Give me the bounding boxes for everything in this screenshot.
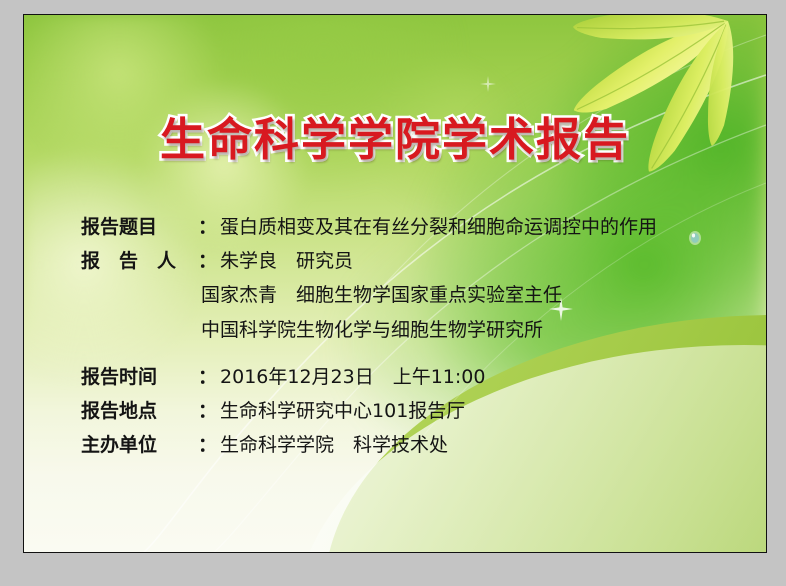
row-topic: 报告题目 ： 蛋白质相变及其在有丝分裂和细胞命运调控中的作用 [81,210,741,244]
row-location-colon: ： [198,394,217,428]
row-topic-value: 蛋白质相变及其在有丝分裂和细胞命运调控中的作用 [220,210,657,244]
row-time: 报告时间 ： 2016年12月23日 上午11:00 [81,360,741,394]
row-speaker-label: 报 告 人 [81,244,198,278]
row-time-value: 2016年12月23日 上午11:00 [220,360,485,394]
slide-body: 报告题目 ： 蛋白质相变及其在有丝分裂和细胞命运调控中的作用 报 告 人 ： 朱… [81,210,741,462]
row-time-label: 报告时间 [81,360,198,394]
row-speaker-colon: ： [198,244,217,278]
row-speaker-value: 朱学良 研究员 [220,244,353,278]
row-speaker: 报 告 人 ： 朱学良 研究员 [81,244,741,278]
speaker-affiliation-line-1: 国家杰青 细胞生物学国家重点实验室主任 [81,278,741,313]
row-time-colon: ： [198,360,217,394]
screenshot-canvas: 生命科学学院学术报告 报告题目 ： 蛋白质相变及其在有丝分裂和细胞命运调控中的作… [0,0,786,586]
row-organizer-label: 主办单位 [81,428,198,462]
row-topic-label: 报告题目 [81,210,198,244]
row-location-value: 生命科学研究中心101报告厅 [220,394,465,428]
row-organizer-colon: ： [198,428,217,462]
row-organizer-value: 生命科学学院 科学技术处 [220,428,448,462]
presentation-slide: 生命科学学院学术报告 报告题目 ： 蛋白质相变及其在有丝分裂和细胞命运调控中的作… [23,14,767,553]
speaker-affiliation-1: 国家杰青 细胞生物学国家重点实验室主任 [201,284,562,306]
row-organizer: 主办单位 ： 生命科学学院 科学技术处 [81,428,741,462]
speaker-affiliation-line-2: 中国科学院生物化学与细胞生物学研究所 [81,313,741,348]
row-location-label: 报告地点 [81,394,198,428]
slide-title: 生命科学学院学术报告 [24,103,766,168]
row-topic-colon: ： [198,210,217,244]
row-location: 报告地点 ： 生命科学研究中心101报告厅 [81,394,741,428]
speaker-affiliation-2: 中国科学院生物化学与细胞生物学研究所 [201,319,543,341]
